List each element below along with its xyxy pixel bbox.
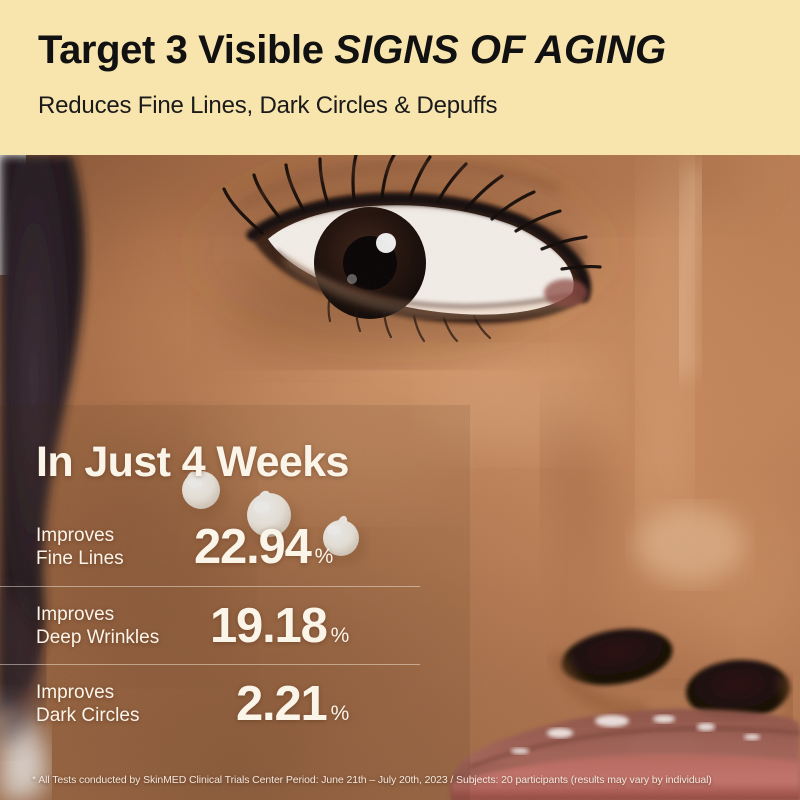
stat-number: 2.21 [236, 676, 327, 732]
headline-emphasis: SIGNS OF AGING [334, 28, 666, 72]
stat-number: 22.94 [194, 519, 311, 575]
stat-row-fine-lines: Improves Fine Lines 22.94 % [0, 508, 420, 586]
stat-label-line2: Dark Circles [36, 704, 184, 727]
stat-label-line1: Improves [36, 603, 184, 626]
stat-label-line1: Improves [36, 524, 184, 547]
headline-main: Target 3 Visible [38, 28, 334, 72]
percent-symbol: % [331, 702, 350, 726]
percent-symbol: % [315, 545, 334, 569]
results-heading: In Just 4 Weeks [36, 438, 349, 487]
stat-label-line1: Improves [36, 681, 184, 704]
stat-value: 22.94 % [194, 519, 333, 575]
stat-label: Improves Deep Wrinkles [36, 603, 184, 649]
stat-number: 19.18 [210, 598, 327, 654]
promo-banner: Target 3 Visible SIGNS OF AGING Reduces … [0, 0, 800, 155]
results-list: Improves Fine Lines 22.94 % Improves Dee… [0, 508, 420, 742]
stat-value: 2.21 % [236, 676, 349, 732]
percent-symbol: % [331, 624, 350, 648]
stat-value: 19.18 % [210, 598, 349, 654]
disclaimer-text: * All Tests conducted by SkinMED Clinica… [32, 774, 772, 786]
stat-label-line2: Deep Wrinkles [36, 626, 184, 649]
stat-label-line2: Fine Lines [36, 547, 184, 570]
stat-row-deep-wrinkles: Improves Deep Wrinkles 19.18 % [0, 586, 420, 664]
ad-creative: Target 3 Visible SIGNS OF AGING Reduces … [0, 0, 800, 800]
page-subtitle: Reduces Fine Lines, Dark Circles & Depuf… [38, 92, 497, 120]
stat-label: Improves Fine Lines [36, 524, 184, 570]
page-title: Target 3 Visible SIGNS OF AGING [38, 28, 666, 73]
stat-row-dark-circles: Improves Dark Circles 2.21 % [0, 664, 420, 742]
stat-label: Improves Dark Circles [36, 681, 184, 727]
